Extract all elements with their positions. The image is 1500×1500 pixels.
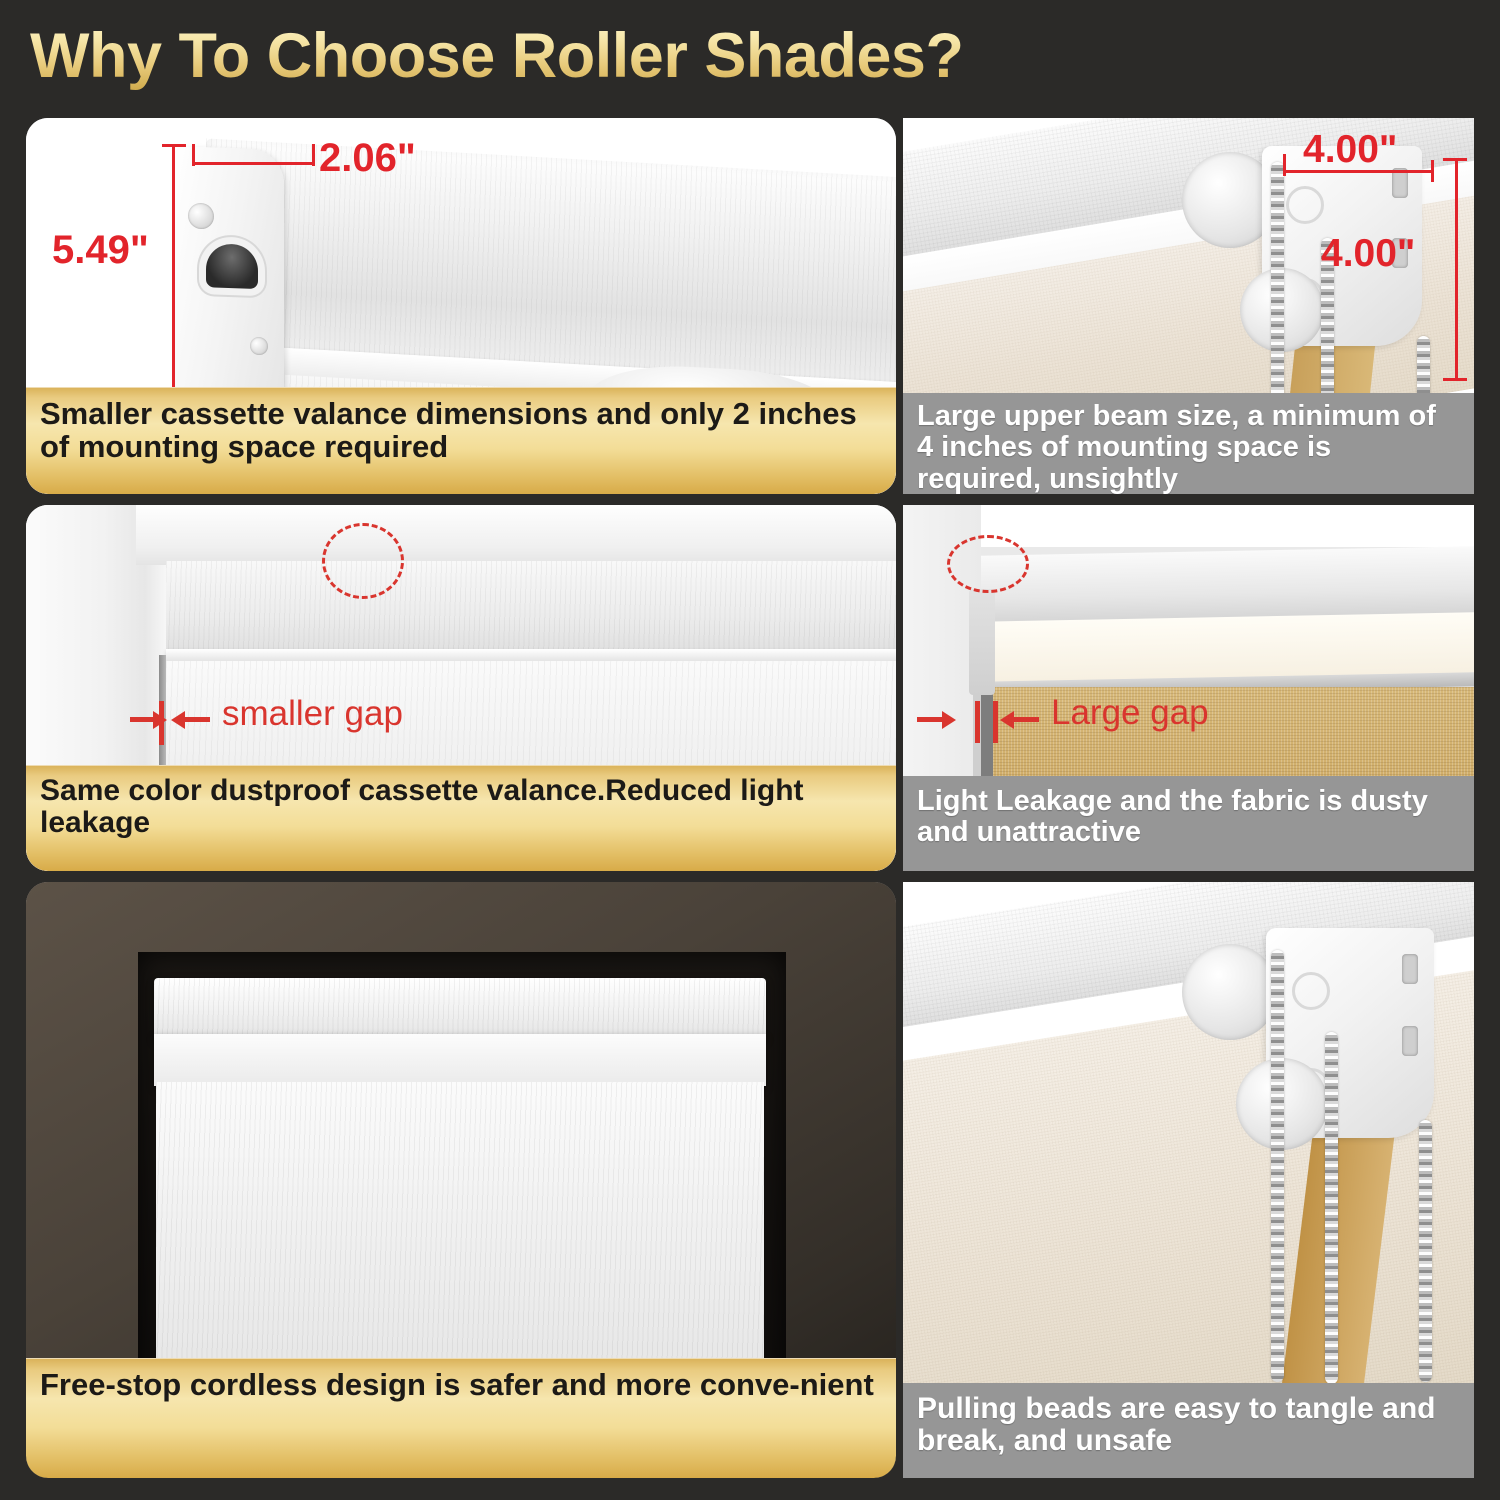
- highlight-dashed-circle: [322, 523, 404, 599]
- bracket-tab-top: [1402, 954, 1418, 984]
- panel-caption-pro-cassette-size: Smaller cassette valance dimensions and …: [26, 387, 896, 494]
- beam-height-tick-bottom: [1443, 378, 1467, 381]
- smaller-gap-label: smaller gap: [222, 694, 403, 734]
- beam-height-tick-top: [1443, 158, 1467, 161]
- window-valance-lower: [154, 1034, 766, 1086]
- end-cap-screw-top: [188, 203, 214, 230]
- bead-chain-left: [1271, 950, 1284, 1382]
- panel-pro-cassette-size: 2.06" 5.49" Smaller cassette valance dim…: [26, 118, 896, 494]
- window-frame-top: [136, 505, 896, 565]
- gap-marker-bar-right: [993, 701, 998, 743]
- cassette-band: [166, 561, 896, 653]
- gap-marker-bar-left: [975, 701, 980, 743]
- panel-con-beam-size: 4.00" 4.00" Large upper beam size, a min…: [903, 118, 1474, 494]
- highlight-dashed-circle: [947, 535, 1029, 593]
- panel-con-light-leakage: Large gap Light Leakage and the fabric i…: [903, 505, 1474, 871]
- window-valance: [154, 978, 766, 1040]
- roller-disc: [1182, 944, 1278, 1040]
- large-gap-label: Large gap: [1051, 693, 1209, 733]
- end-cap-screw-bottom: [250, 337, 268, 356]
- panel-pro-cordless: Free-stop cordless design is safer and m…: [26, 882, 896, 1478]
- gap-arrow-right: [130, 717, 154, 722]
- panel-caption-con-light-leakage: Light Leakage and the fabric is dusty an…: [903, 776, 1474, 871]
- gap-marker-bar: [159, 701, 164, 745]
- bracket-ring-top: [1292, 972, 1330, 1010]
- gap-arrow-left: [184, 717, 210, 722]
- panel-caption-pro-cordless: Free-stop cordless design is safer and m…: [26, 1358, 896, 1478]
- beam-width-tick-left: [1283, 154, 1286, 176]
- height-dimension-label: 5.49": [52, 228, 149, 273]
- bracket-ring-top: [1286, 186, 1324, 224]
- height-dim-tick-top: [162, 144, 186, 147]
- panel-caption-con-pulling-beads: Pulling beads are easy to tangle and bre…: [903, 1383, 1474, 1478]
- panel-caption-pro-small-gap: Same color dustproof cassette valance.Re…: [26, 765, 896, 871]
- beam-height-dimension-label: 4.00": [1321, 232, 1415, 276]
- side-clip: [969, 589, 995, 695]
- width-dimension-label: 2.06": [319, 136, 416, 181]
- comparison-grid: 2.06" 5.49" Smaller cassette valance dim…: [0, 0, 1500, 1500]
- width-dim-line: [192, 162, 314, 165]
- bead-chain-middle: [1325, 1032, 1338, 1384]
- panel-caption-con-beam-size: Large upper beam size, a minimum of 4 in…: [903, 393, 1474, 494]
- gap-arrow-right: [917, 717, 943, 722]
- bead-chain-right: [1419, 1120, 1432, 1382]
- beam-width-tick-right: [1431, 160, 1434, 182]
- end-cap-slot: [206, 243, 258, 289]
- beam-height-dim-line: [1455, 158, 1458, 380]
- bracket-tab-bottom: [1402, 1026, 1418, 1056]
- panel-pro-small-gap: smaller gap Same color dustproof cassett…: [26, 505, 896, 871]
- panel-con-pulling-beads: Pulling beads are easy to tangle and bre…: [903, 882, 1474, 1478]
- window-shade-fabric: [156, 1082, 764, 1382]
- beam-width-dimension-label: 4.00": [1303, 128, 1397, 172]
- gap-arrow-left: [1013, 717, 1039, 722]
